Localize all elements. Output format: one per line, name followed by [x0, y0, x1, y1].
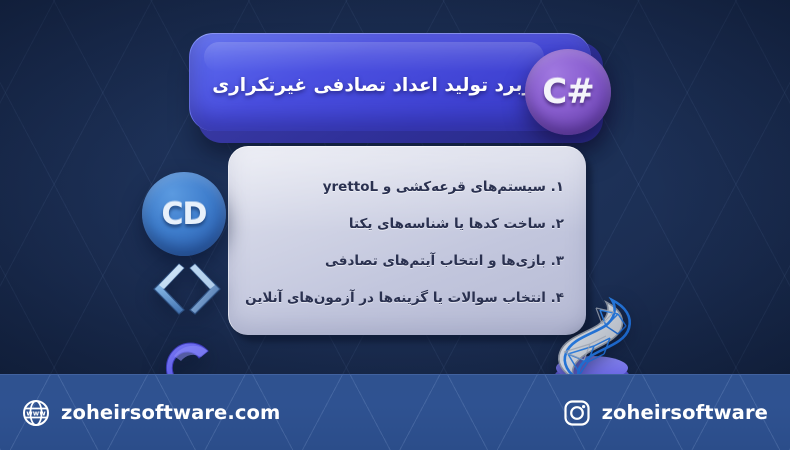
list-item: ۱. سیستم‌های قرعه‌کشی و Lottery [251, 178, 564, 196]
footer-website[interactable]: www zoheirsoftware.com [22, 399, 280, 427]
cd-badge: CD [142, 172, 226, 256]
list-item: ۴. انتخاب سوالات یا گزینه‌ها در آزمون‌ها… [251, 289, 564, 307]
panel-face: ۱. سیستم‌های قرعه‌کشی و Lottery ۲. ساخت … [228, 146, 586, 335]
poster-canvas: کاربرد تولید اعداد تصادفی غیرتکراری C# ۱… [0, 0, 790, 450]
website-label: zoheirsoftware.com [61, 401, 280, 424]
footer-instagram[interactable]: zoheirsoftware [563, 399, 768, 427]
list-item: ۳. بازی‌ها و انتخاب آیتم‌های تصادفی [251, 252, 564, 270]
cd-badge-label: CD [162, 197, 207, 232]
svg-text:www: www [26, 409, 46, 417]
footer-bar: www zoheirsoftware.com zoheirsoftware [0, 374, 790, 450]
title-banner: کاربرد تولید اعداد تصادفی غیرتکراری C# [189, 33, 603, 143]
instagram-icon [563, 399, 591, 427]
csharp-badge: C# [525, 49, 611, 135]
globe-www-icon: www [22, 399, 50, 427]
code-brackets-icon [148, 258, 226, 320]
instagram-label: zoheirsoftware [602, 401, 768, 424]
list-item: ۲. ساخت کدها یا شناسه‌های یکتا [251, 215, 564, 233]
page-title: کاربرد تولید اعداد تصادفی غیرتکراری [212, 75, 569, 96]
csharp-badge-label: C# [542, 72, 593, 112]
